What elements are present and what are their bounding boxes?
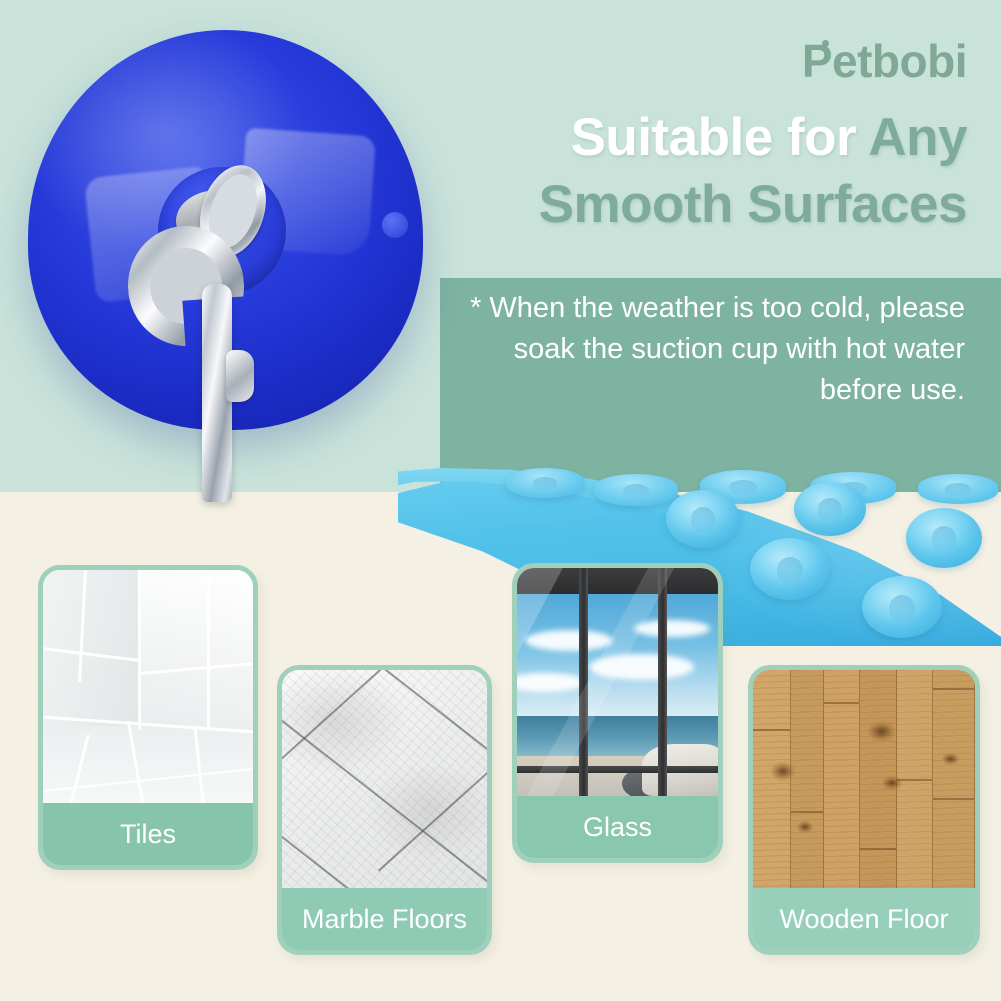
plank-seam: [860, 848, 897, 850]
surface-card-marble[interactable]: Marble Floors: [277, 665, 492, 955]
door-sill: [517, 766, 718, 773]
wood-plank: [897, 670, 933, 898]
plank-seam: [791, 811, 823, 813]
marble-grout-line: [277, 665, 492, 767]
sky: [517, 589, 718, 715]
wood-knot: [771, 761, 795, 782]
tiles-illustration: [43, 570, 253, 813]
surface-card-glass[interactable]: Glass: [512, 563, 723, 863]
mat-suction-cup: [862, 576, 942, 638]
grout-line: [138, 570, 141, 730]
wood-knot: [882, 775, 902, 791]
mat-suction-cup: [906, 508, 982, 568]
carabiner-thumb-latch: [226, 350, 254, 402]
glass-photo: [517, 568, 718, 806]
headline-suitable-for: Suitable for: [571, 108, 857, 167]
wood-illustration: [753, 670, 975, 898]
wooden-floor-photo: [753, 670, 975, 898]
weather-note-text: * When the weather is too cold, please s…: [455, 288, 965, 412]
plank-seam: [933, 688, 974, 690]
surface-card-tiles[interactable]: Tiles: [38, 565, 258, 870]
product-marketing-image: Petbobi Suitable for Any Smooth Surfaces…: [0, 0, 1001, 1001]
grout-line: [207, 570, 210, 730]
headline-any: Any: [868, 108, 967, 167]
brand-logo: Petbobi: [802, 38, 967, 84]
tile-wall-right: [140, 570, 253, 730]
mat-suction-cup: [918, 474, 998, 504]
plank-seam: [824, 702, 859, 704]
mat-suction-cup: [506, 468, 584, 498]
marble-grout-line: [361, 665, 492, 836]
headline-line-2: Smooth Surfaces: [387, 171, 967, 238]
wood-plank: [933, 670, 975, 898]
marble-photo: [282, 670, 487, 898]
cloud: [634, 620, 710, 637]
plank-seam: [897, 779, 932, 781]
card-label-glass: Glass: [517, 796, 718, 858]
door-frame-top: [517, 568, 718, 594]
wood-knot: [797, 820, 813, 834]
wood-knot: [868, 720, 895, 743]
wood-knot: [942, 752, 960, 766]
plank-seam: [753, 729, 790, 731]
surface-card-wooden-floor[interactable]: Wooden Floor: [748, 665, 980, 955]
card-label-tiles: Tiles: [43, 803, 253, 865]
door-mullion: [658, 568, 667, 806]
mat-suction-cup: [750, 538, 830, 600]
plank-seam: [933, 798, 974, 800]
wood-plank: [791, 670, 824, 898]
tile-floor: [43, 726, 253, 813]
wood-plank: [824, 670, 860, 898]
marble-illustration: [282, 670, 487, 898]
card-label-marble: Marble Floors: [282, 888, 487, 950]
mat-suction-cup: [594, 474, 678, 506]
headline-line-1: Suitable for Any: [387, 104, 967, 171]
logo-dot-icon: [822, 40, 829, 47]
card-label-wooden-floor: Wooden Floor: [753, 888, 975, 950]
door-mullion: [579, 568, 588, 806]
page-title: Suitable for Any Smooth Surfaces: [387, 104, 967, 239]
wood-plank: [753, 670, 791, 898]
hero-suction-cup-photo: [10, 12, 450, 502]
tiles-photo: [43, 570, 253, 813]
mat-suction-cup: [794, 482, 866, 536]
cloud: [589, 654, 694, 680]
glass-illustration: [517, 568, 718, 806]
mat-suction-cup: [666, 490, 740, 548]
